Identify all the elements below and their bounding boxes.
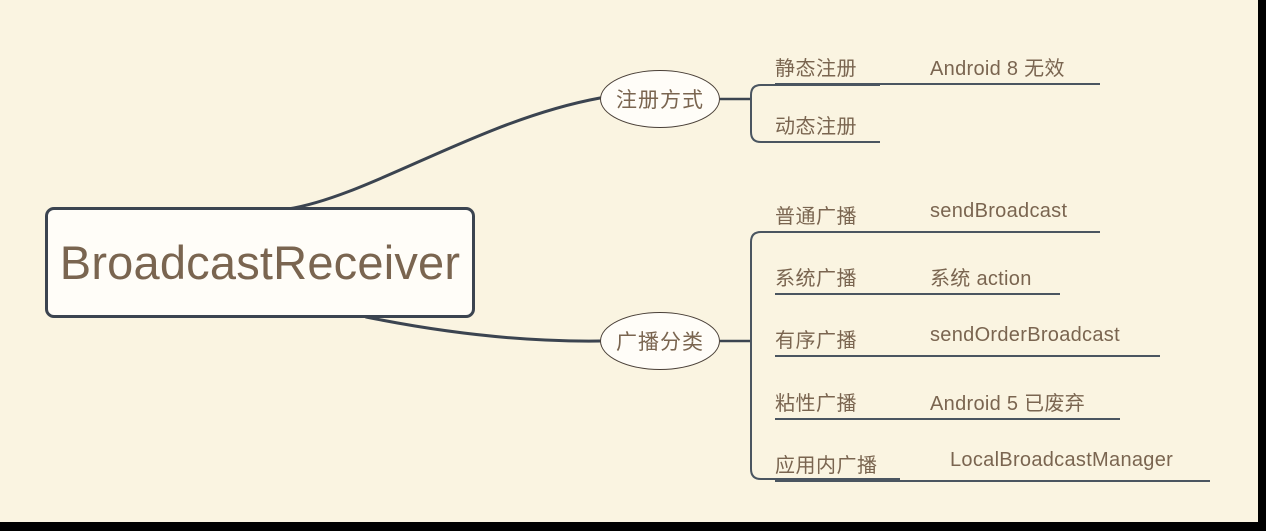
leaf-detail: Android 8 无效 <box>930 52 1065 81</box>
leaf-row[interactable]: 粘性广播 Android 5 已废弃 <box>775 387 1120 429</box>
root-node-label: BroadcastReceiver <box>60 235 460 290</box>
leaf-row[interactable]: 静态注册 Android 8 无效 <box>775 52 1100 94</box>
leaf-title: 有序广播 <box>775 324 857 353</box>
leaf-detail: 系统 action <box>930 262 1032 291</box>
leaf-underline <box>775 141 880 143</box>
leaf-row[interactable]: 有序广播 sendOrderBroadcast <box>775 324 1160 366</box>
leaf-underline <box>775 355 1160 357</box>
right-edge-strip <box>1258 0 1266 531</box>
leaf-underline <box>775 293 1060 295</box>
leaf-underline <box>775 480 1210 482</box>
leaf-detail: sendBroadcast <box>930 200 1067 223</box>
leaf-underline <box>775 83 1100 85</box>
leaf-title: 静态注册 <box>775 52 857 81</box>
root-node[interactable]: BroadcastReceiver <box>45 207 475 318</box>
leaf-row[interactable]: 系统广播 系统 action <box>775 262 1060 304</box>
mindmap-canvas: BroadcastReceiver 注册方式 广播分类 静态注册 Android… <box>0 0 1266 531</box>
bottom-edge-strip <box>0 522 1266 531</box>
leaf-title: 动态注册 <box>775 110 857 139</box>
leaf-row[interactable]: 普通广播 sendBroadcast <box>775 200 1100 242</box>
branch-node-label: 广播分类 <box>616 326 704 356</box>
leaf-underline <box>775 418 1120 420</box>
branch-node-label: 注册方式 <box>616 84 704 114</box>
branch-node-registration-method[interactable]: 注册方式 <box>600 70 720 128</box>
leaf-detail: Android 5 已废弃 <box>930 387 1085 416</box>
leaf-detail: sendOrderBroadcast <box>930 324 1120 347</box>
leaf-underline <box>775 231 1100 233</box>
branch-node-broadcast-category[interactable]: 广播分类 <box>600 312 720 370</box>
leaf-title: 系统广播 <box>775 262 857 291</box>
leaf-title: 应用内广播 <box>775 449 878 478</box>
leaf-row[interactable]: 动态注册 <box>775 110 880 152</box>
leaf-title: 普通广播 <box>775 200 857 229</box>
leaf-title: 粘性广播 <box>775 387 857 416</box>
leaf-row[interactable]: 应用内广播 LocalBroadcastManager <box>775 449 1210 491</box>
edge-root-to-branch-0 <box>288 98 600 209</box>
edge-root-to-branch-1 <box>366 317 600 341</box>
leaf-detail: LocalBroadcastManager <box>950 449 1173 472</box>
